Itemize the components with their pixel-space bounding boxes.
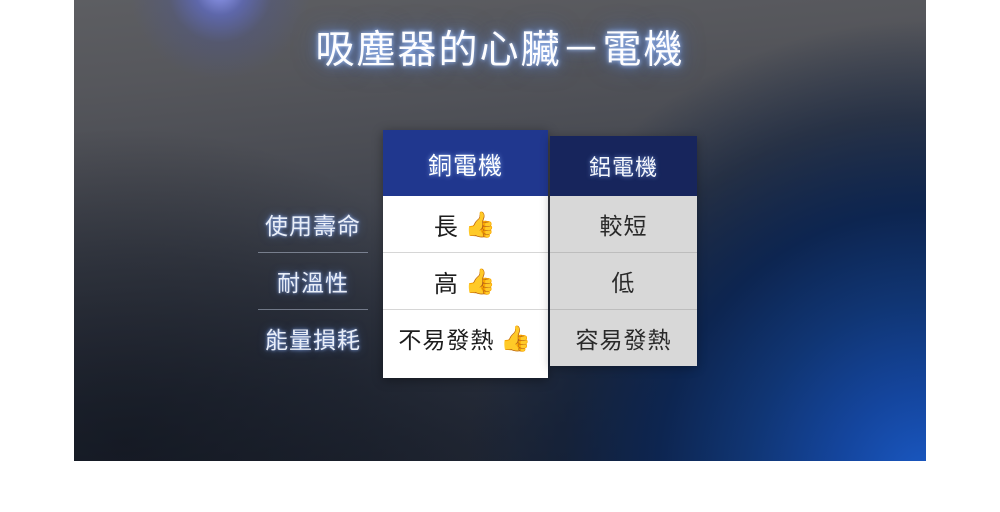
thumbs-up-icon: 👍 xyxy=(465,213,497,238)
table-row-label-lifespan: 使用壽命 xyxy=(258,196,368,252)
table-column-aluminium-motor: 鋁電機 較短 低 容易發熱 xyxy=(550,136,697,366)
table-row-label-energy-loss: 能量損耗 xyxy=(258,309,368,366)
slide-stage: 吸塵器的心臟－電機 使用壽命 耐溫性 能量損耗 銅電機 長 👍 高 xyxy=(0,0,1000,512)
table-cell-copper-lifespan: 長 👍 xyxy=(383,196,548,252)
table-cell-value: 高 xyxy=(434,264,459,299)
table-cell-copper-energy-loss: 不易發熱 👍 xyxy=(383,309,548,366)
table-cell-aluminium-lifespan: 較短 xyxy=(550,196,697,252)
table-column-copper-motor: 銅電機 長 👍 高 👍 不易發熱 👍 xyxy=(383,130,548,378)
table-row-label-heat-resistance: 耐溫性 xyxy=(258,252,368,309)
presentation-slide: 吸塵器的心臟－電機 使用壽命 耐溫性 能量損耗 銅電機 長 👍 高 xyxy=(74,0,926,461)
table-header-copper-motor: 銅電機 xyxy=(383,130,548,196)
table-cell-aluminium-heat-resistance: 低 xyxy=(550,252,697,309)
table-column-aluminium-body: 較短 低 容易發熱 xyxy=(550,196,697,366)
table-column-copper-body: 長 👍 高 👍 不易發熱 👍 xyxy=(383,196,548,378)
table-cell-value: 不易發熱 xyxy=(398,321,494,355)
page-title: 吸塵器的心臟－電機 xyxy=(74,28,926,75)
table-cell-copper-heat-resistance: 高 👍 xyxy=(383,252,548,309)
table-cell-value: 長 xyxy=(434,207,459,242)
thumbs-up-icon: 👍 xyxy=(500,327,532,352)
table-row-label-column: 使用壽命 耐溫性 能量損耗 xyxy=(258,196,368,366)
table-cell-aluminium-energy-loss: 容易發熱 xyxy=(550,309,697,366)
table-header-aluminium-motor: 鋁電機 xyxy=(550,136,697,196)
thumbs-up-icon: 👍 xyxy=(465,270,497,295)
